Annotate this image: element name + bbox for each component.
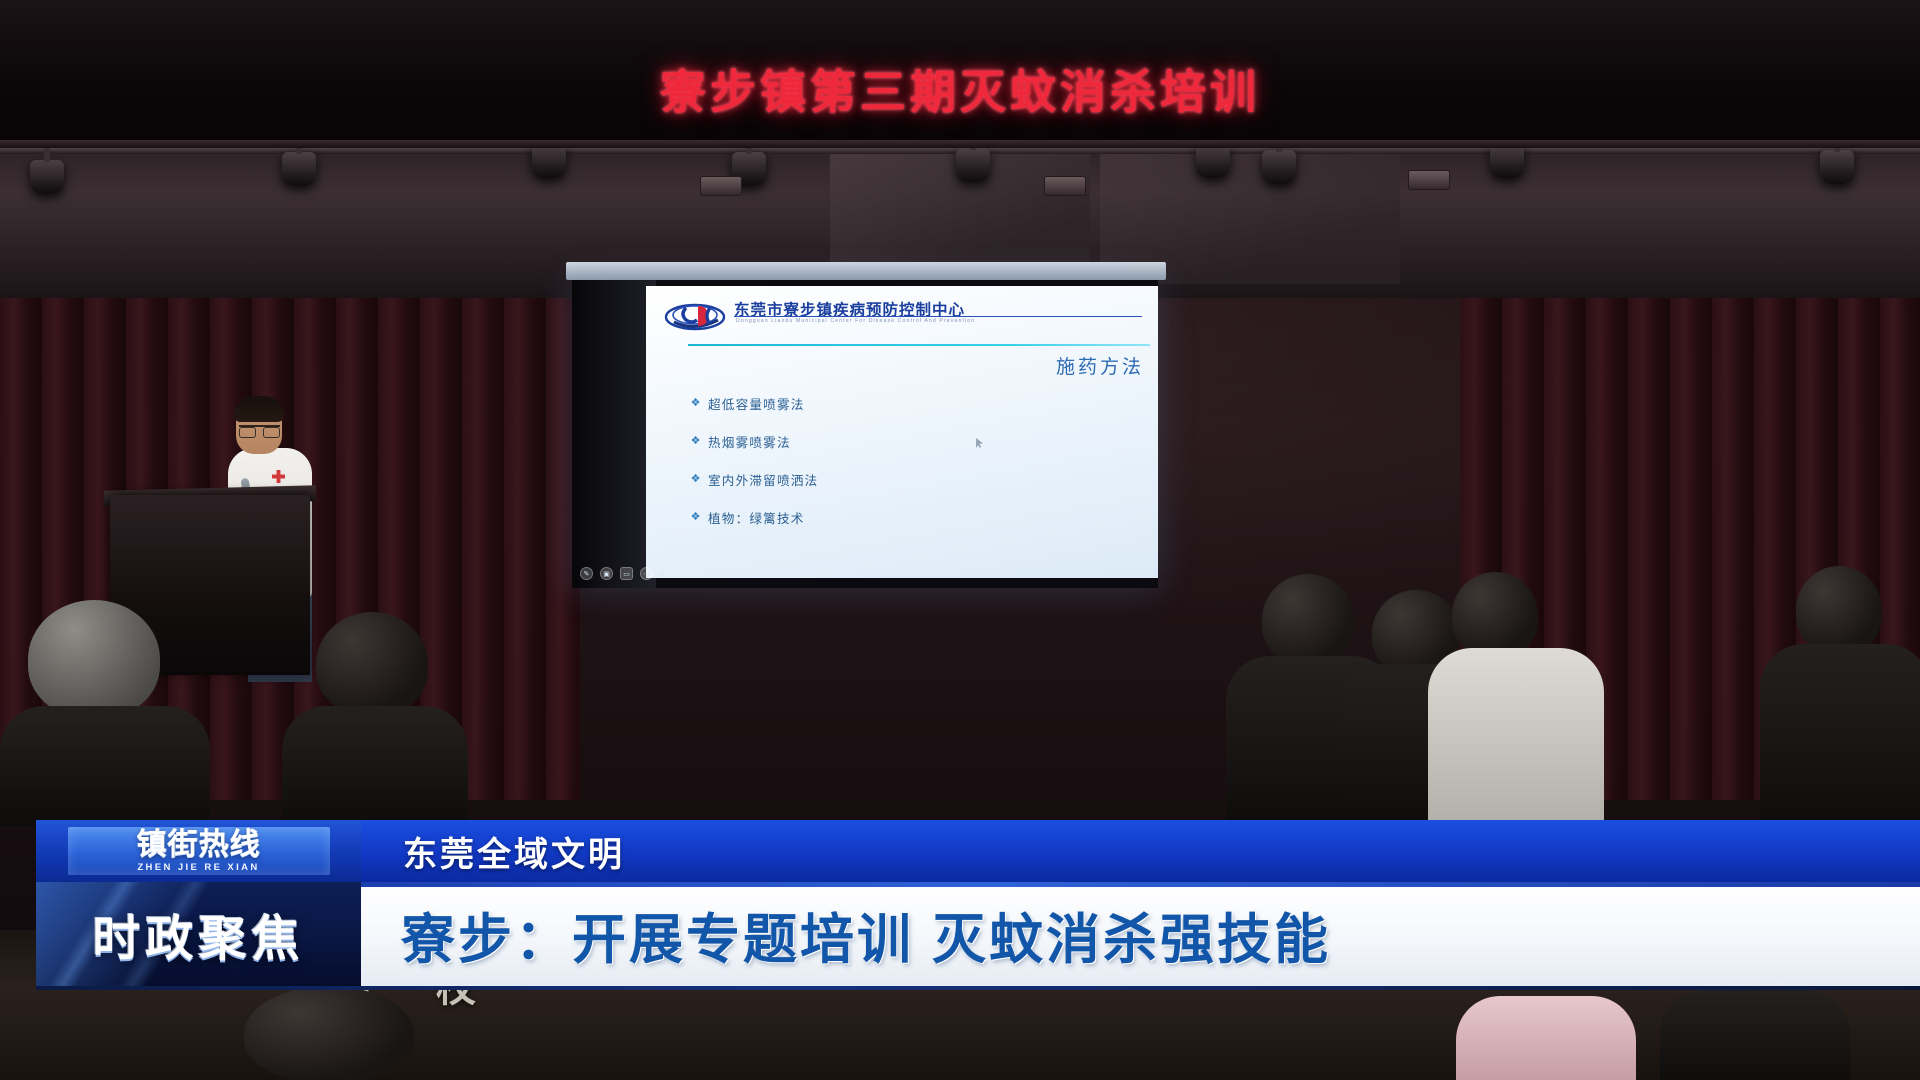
program-logo-pinyin: ZHEN JIE RE XIAN <box>137 862 259 873</box>
diamond-bullet-icon: ❖ <box>690 512 701 523</box>
kicker-bar: 东莞全域文明 <box>361 820 1920 882</box>
audience-head <box>28 600 160 718</box>
slide-divider <box>688 344 1150 346</box>
screen-unlit-area <box>572 280 656 588</box>
speaker-hair <box>234 396 284 422</box>
presentation-slide: 东莞市寮步镇疾病预防控制中心 Dongguan Liaobu Municipal… <box>646 286 1158 578</box>
spotlight <box>30 160 64 194</box>
ceiling-vent <box>1408 170 1450 190</box>
audience-head <box>1796 566 1882 654</box>
audience-shoulders <box>1428 648 1604 828</box>
program-logo-plate: 镇街热线 ZHEN JIE RE XIAN <box>68 827 330 875</box>
spotlight <box>1490 144 1524 178</box>
diamond-bullet-icon: ❖ <box>690 436 701 447</box>
list-item-label: 超低容量喷雾法 <box>708 394 805 413</box>
spotlight <box>1820 150 1854 184</box>
video-frame: 寮步镇第三期灭蚊消杀培训 东莞市寮步镇疾病预防控制中心 Dongguan Lia… <box>0 0 1920 1080</box>
slide-header: 东莞市寮步镇疾病预防控制中心 Dongguan Liaobu Municipal… <box>664 296 1146 336</box>
list-item-label: 植物：绿篱技术 <box>708 508 805 527</box>
slide-title: 施药方法 <box>1056 352 1144 379</box>
program-logo: 镇街热线 ZHEN JIE RE XIAN <box>36 820 361 882</box>
headline-row: 寮步：开展专题培训 灭蚊消杀强技能 时政聚焦 <box>36 882 1920 986</box>
lower-third-bottom-edge <box>36 986 1920 990</box>
audience-head-foreground <box>244 986 414 1080</box>
spotlight <box>1196 144 1230 178</box>
diamond-bullet-icon: ❖ <box>690 398 701 409</box>
audience-shoulders-foreground <box>1660 990 1850 1080</box>
headline-panel: 寮步：开展专题培训 灭蚊消杀强技能 <box>361 882 1920 986</box>
ceiling-vent <box>1044 176 1086 196</box>
pen-tool-button[interactable]: ✎ <box>580 567 593 580</box>
spotlight <box>956 148 990 182</box>
audience-shoulders <box>0 706 210 826</box>
audience-shoulders <box>1760 644 1920 828</box>
projection-screen: 东莞市寮步镇疾病预防控制中心 Dongguan Liaobu Municipal… <box>572 280 1158 588</box>
spotlight <box>1262 150 1296 184</box>
slide-bullet-list: ❖ 超低容量喷雾法 ❖ 热烟雾喷雾法 ❖ 室内外滞留喷洒法 ❖ 植物：绿篱技术 <box>690 394 818 546</box>
list-item: ❖ 植物：绿篱技术 <box>690 508 818 527</box>
diamond-bullet-icon: ❖ <box>690 474 701 485</box>
list-item: ❖ 超低容量喷雾法 <box>690 394 818 413</box>
more-options-button[interactable]: ⋯ <box>640 567 653 580</box>
pointer-tool-button[interactable]: ▣ <box>600 567 613 580</box>
list-item: ❖ 室内外滞留喷洒法 <box>690 470 818 489</box>
audience-shoulders <box>282 706 468 826</box>
audience-head <box>316 612 428 716</box>
category-label: 时政聚焦 <box>92 899 304 969</box>
soffit-edge <box>0 140 1920 148</box>
mouse-cursor-icon <box>976 438 983 448</box>
audience-shoulders-foreground <box>1456 996 1636 1080</box>
audience-head <box>1262 574 1354 666</box>
cdc-logo-icon <box>664 298 726 332</box>
eyeglasses-icon <box>239 425 280 434</box>
spotlight <box>282 152 316 186</box>
broadcast-lower-third: 东莞全域文明 镇街热线 ZHEN JIE RE XIAN 寮步：开展专题培训 灭… <box>0 820 1920 990</box>
headline-panel-topline <box>361 882 1920 887</box>
kicker-label: 东莞全域文明 <box>403 827 625 876</box>
list-item: ❖ 热烟雾喷雾法 <box>690 432 818 451</box>
list-item-label: 室内外滞留喷洒法 <box>708 470 818 489</box>
venue-led-banner-text: 寮步镇第三期灭蚊消杀培训 <box>0 56 1920 122</box>
program-logo-title: 镇街热线 <box>137 830 261 860</box>
previous-slide-button[interactable]: ‹ <box>660 569 663 579</box>
list-item-label: 热烟雾喷雾法 <box>708 432 791 451</box>
slideshow-button[interactable]: ▭ <box>620 567 633 580</box>
headline-text: 寮步：开展专题培训 灭蚊消杀强技能 <box>401 895 1331 974</box>
spotlight <box>532 144 566 178</box>
slideshow-toolbar[interactable]: ✎ ▣ ▭ ⋯ ‹ <box>580 567 663 580</box>
ceiling-vent <box>700 176 742 196</box>
projector-screen-housing <box>566 262 1166 280</box>
audience-head <box>1452 572 1538 658</box>
slide-org-name-en: Dongguan Liaobu Municipal Center For Dis… <box>736 318 975 325</box>
category-badge: 时政聚焦 <box>36 882 361 986</box>
